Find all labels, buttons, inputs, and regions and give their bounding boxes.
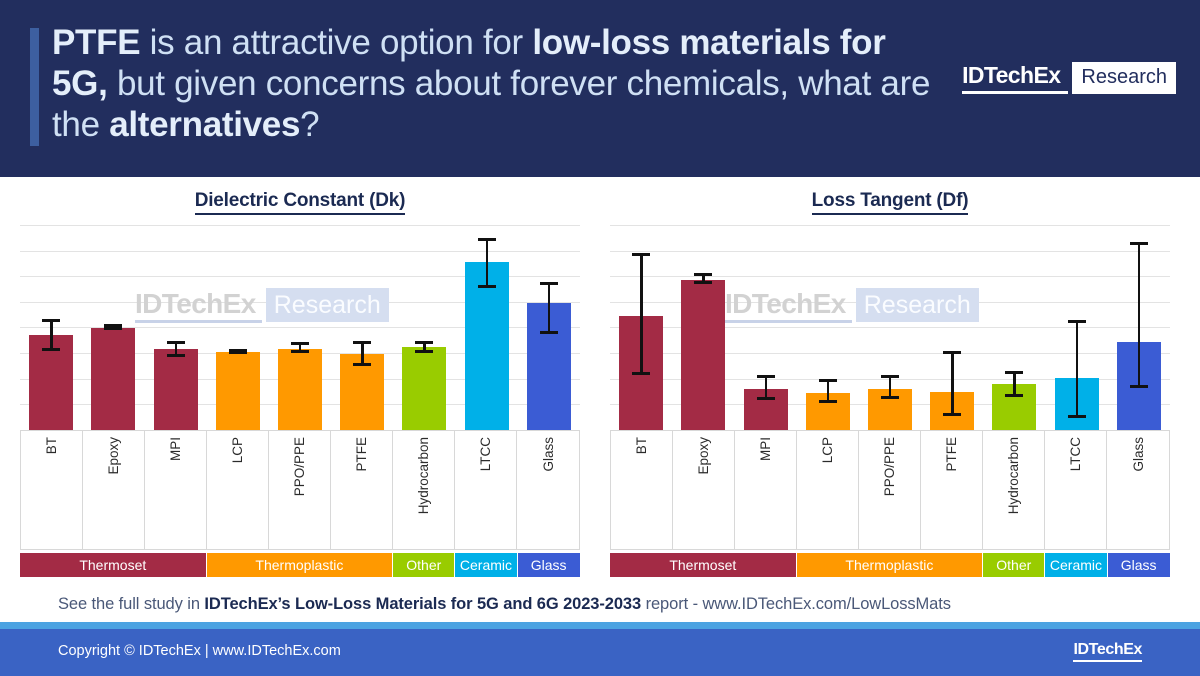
footer-copyright: Copyright © IDTechEx | www.IDTechEx.com — [58, 643, 341, 659]
error-cap-upper — [104, 324, 122, 327]
category-label: Hydrocarbon — [1006, 437, 1021, 514]
error-cap-upper — [291, 342, 309, 345]
headline-part-5: ? — [300, 105, 319, 144]
bar-slot — [340, 225, 384, 430]
error-cap-upper — [819, 379, 837, 382]
group-legend-other[interactable]: Other — [393, 553, 455, 577]
footer-accent-strip — [0, 622, 1200, 629]
bar-slot — [930, 225, 974, 430]
category-cell: Glass — [1107, 431, 1169, 549]
group-legend-ceramic[interactable]: Ceramic — [455, 553, 517, 577]
headline: PTFE is an attractive option for low-los… — [52, 22, 932, 145]
error-cap-upper — [1005, 371, 1023, 374]
error-bar — [1076, 321, 1079, 416]
footer-bar: Copyright © IDTechEx | www.IDTechEx.com … — [0, 629, 1200, 676]
error-cap-lower — [632, 372, 650, 375]
bar-slot — [278, 225, 322, 430]
plot-area: IDTechExResearchBTEpoxyMPILCPPPO/PPEPTFE… — [20, 225, 580, 603]
group-legend-thermoset[interactable]: Thermoset — [610, 553, 797, 577]
group-legend-glass[interactable]: Glass — [518, 553, 580, 577]
bar-slot — [806, 225, 850, 430]
category-label: MPI — [758, 437, 773, 461]
category-label-panel: BTEpoxyMPILCPPPO/PPEPTFEHydrocarbonLTCCG… — [610, 430, 1170, 550]
idtechex-research-logo: IDTechEx Research — [962, 62, 1176, 94]
error-bar — [1138, 244, 1141, 387]
error-cap-upper — [1130, 242, 1148, 245]
error-cap-lower — [104, 327, 122, 330]
error-cap-upper — [943, 351, 961, 354]
error-bar — [548, 284, 551, 333]
category-label: Epoxy — [106, 437, 121, 475]
category-cell: PTFE — [921, 431, 983, 549]
bar-slot — [681, 225, 725, 430]
error-cap-lower — [42, 348, 60, 351]
bar-mpi[interactable] — [154, 349, 198, 430]
error-cap-lower — [478, 285, 496, 288]
bar-slot — [1055, 225, 1099, 430]
error-cap-lower — [694, 281, 712, 284]
category-label: Epoxy — [696, 437, 711, 475]
error-cap-lower — [540, 331, 558, 334]
error-cap-upper — [757, 375, 775, 378]
error-cap-upper — [478, 238, 496, 241]
bar-epoxy[interactable] — [91, 328, 135, 431]
error-cap-lower — [881, 396, 899, 399]
chart-loss-tangent: Loss Tangent (Df)IDTechExResearchBTEpoxy… — [604, 177, 1176, 586]
group-legend-glass[interactable]: Glass — [1108, 553, 1170, 577]
plot-area: IDTechExResearchBTEpoxyMPILCPPPO/PPEPTFE… — [610, 225, 1170, 603]
category-cell: BT — [611, 431, 673, 549]
group-legend-thermoset[interactable]: Thermoset — [20, 553, 207, 577]
error-cap-upper — [632, 253, 650, 256]
bar-slot — [527, 225, 571, 430]
error-bar — [889, 376, 892, 398]
bar-slot — [619, 225, 663, 430]
group-legend-ceramic[interactable]: Ceramic — [1045, 553, 1107, 577]
bar-slot — [992, 225, 1036, 430]
group-legend-thermoplastic[interactable]: Thermoplastic — [797, 553, 984, 577]
chart-dielectric-constant: Dielectric Constant (Dk)IDTechExResearch… — [14, 177, 586, 586]
category-cell: MPI — [735, 431, 797, 549]
category-label: PTFE — [944, 437, 959, 472]
group-legend-other[interactable]: Other — [983, 553, 1045, 577]
category-label: BT — [44, 437, 59, 454]
logo-research-badge: Research — [1072, 62, 1176, 94]
bar-ptfe[interactable] — [340, 354, 384, 430]
error-bar — [486, 240, 489, 286]
category-cell: PTFE — [331, 431, 393, 549]
category-label-panel: BTEpoxyMPILCPPPO/PPEPTFEHydrocarbonLTCCG… — [20, 430, 580, 550]
bar-slot — [91, 225, 135, 430]
category-label: Glass — [1131, 437, 1146, 472]
bar-epoxy[interactable] — [681, 280, 725, 430]
category-cell: Hydrocarbon — [393, 431, 455, 549]
headline-part-1: is an attractive option for — [140, 23, 532, 62]
category-cell: Epoxy — [83, 431, 145, 549]
header-banner: PTFE is an attractive option for low-los… — [0, 0, 1200, 177]
infographic-page: PTFE is an attractive option for low-los… — [0, 0, 1200, 676]
error-bar — [640, 254, 643, 373]
error-cap-lower — [819, 400, 837, 403]
error-cap-upper — [694, 273, 712, 276]
category-label: MPI — [168, 437, 183, 461]
category-cell: PPO/PPE — [269, 431, 331, 549]
error-cap-lower — [415, 350, 433, 353]
headline-part-0: PTFE — [52, 23, 140, 62]
category-label: PPO/PPE — [292, 437, 307, 496]
error-cap-lower — [1068, 415, 1086, 418]
error-cap-lower — [1130, 385, 1148, 388]
error-bar — [827, 380, 830, 401]
study-suffix: report - www.IDTechEx.com/LowLossMats — [641, 595, 951, 613]
category-label: LCP — [820, 437, 835, 463]
bar-slot — [216, 225, 260, 430]
chart-title-text: Dielectric Constant (Dk) — [195, 190, 406, 215]
chart-title-text: Loss Tangent (Df) — [812, 190, 969, 215]
category-label: Glass — [541, 437, 556, 472]
error-bar — [765, 376, 768, 399]
bar-slot — [744, 225, 788, 430]
category-cell: LTCC — [455, 431, 517, 549]
error-cap-upper — [881, 375, 899, 378]
error-cap-lower — [757, 397, 775, 400]
error-cap-upper — [1068, 320, 1086, 323]
error-cap-lower — [353, 363, 371, 366]
error-cap-upper — [42, 319, 60, 322]
bar-series — [610, 225, 1170, 430]
headline-part-4: alternatives — [109, 105, 300, 144]
bar-lcp[interactable] — [216, 352, 260, 430]
chart-title: Dielectric Constant (Dk) — [14, 190, 586, 212]
error-cap-lower — [167, 354, 185, 357]
category-cell: PPO/PPE — [859, 431, 921, 549]
category-cell: LTCC — [1045, 431, 1107, 549]
category-cell: Hydrocarbon — [983, 431, 1045, 549]
group-legend-strip: ThermosetThermoplasticOtherCeramicGlass — [20, 553, 580, 577]
category-cell: LCP — [207, 431, 269, 549]
error-cap-upper — [167, 341, 185, 344]
chart-title: Loss Tangent (Df) — [604, 190, 1176, 212]
bar-slot — [402, 225, 446, 430]
bar-ppo-ppe[interactable] — [278, 349, 322, 430]
bar-slot — [154, 225, 198, 430]
category-label: PTFE — [354, 437, 369, 472]
header-accent-bar — [30, 28, 39, 146]
category-cell: Glass — [517, 431, 579, 549]
error-cap-lower — [1005, 394, 1023, 397]
group-legend-thermoplastic[interactable]: Thermoplastic — [207, 553, 394, 577]
error-bar — [361, 342, 364, 364]
category-label: LTCC — [1068, 437, 1083, 471]
error-bar — [1013, 372, 1016, 396]
error-cap-lower — [229, 351, 247, 354]
study-reference-line: See the full study in IDTechEx’s Low-Los… — [0, 586, 1200, 622]
category-label: BT — [634, 437, 649, 454]
category-cell: LCP — [797, 431, 859, 549]
error-cap-lower — [943, 413, 961, 416]
category-label: LTCC — [478, 437, 493, 471]
study-prefix: See the full study in — [58, 595, 204, 613]
error-cap-upper — [353, 341, 371, 344]
category-cell: MPI — [145, 431, 207, 549]
error-cap-upper — [540, 282, 558, 285]
bar-slot — [465, 225, 509, 430]
group-legend-strip: ThermosetThermoplasticOtherCeramicGlass — [610, 553, 1170, 577]
category-cell: Epoxy — [673, 431, 735, 549]
bar-slot — [868, 225, 912, 430]
category-label: PPO/PPE — [882, 437, 897, 496]
error-bar — [50, 320, 53, 349]
footer-logo: IDTechEx — [1073, 641, 1142, 662]
charts-region: Dielectric Constant (Dk)IDTechExResearch… — [0, 177, 1200, 586]
category-cell: BT — [21, 431, 83, 549]
error-cap-lower — [291, 350, 309, 353]
category-label: Hydrocarbon — [416, 437, 431, 514]
bar-slot — [29, 225, 73, 430]
study-report-name: IDTechEx’s Low-Loss Materials for 5G and… — [204, 595, 641, 613]
bar-hydrocarbon[interactable] — [402, 347, 446, 430]
bar-slot — [1117, 225, 1161, 430]
study-reference-text[interactable]: See the full study in IDTechEx’s Low-Los… — [58, 595, 951, 614]
category-label: LCP — [230, 437, 245, 463]
bar-series — [20, 225, 580, 430]
error-cap-upper — [415, 341, 433, 344]
error-bar — [951, 352, 954, 414]
logo-idtechex-text: IDTechEx — [962, 62, 1068, 94]
